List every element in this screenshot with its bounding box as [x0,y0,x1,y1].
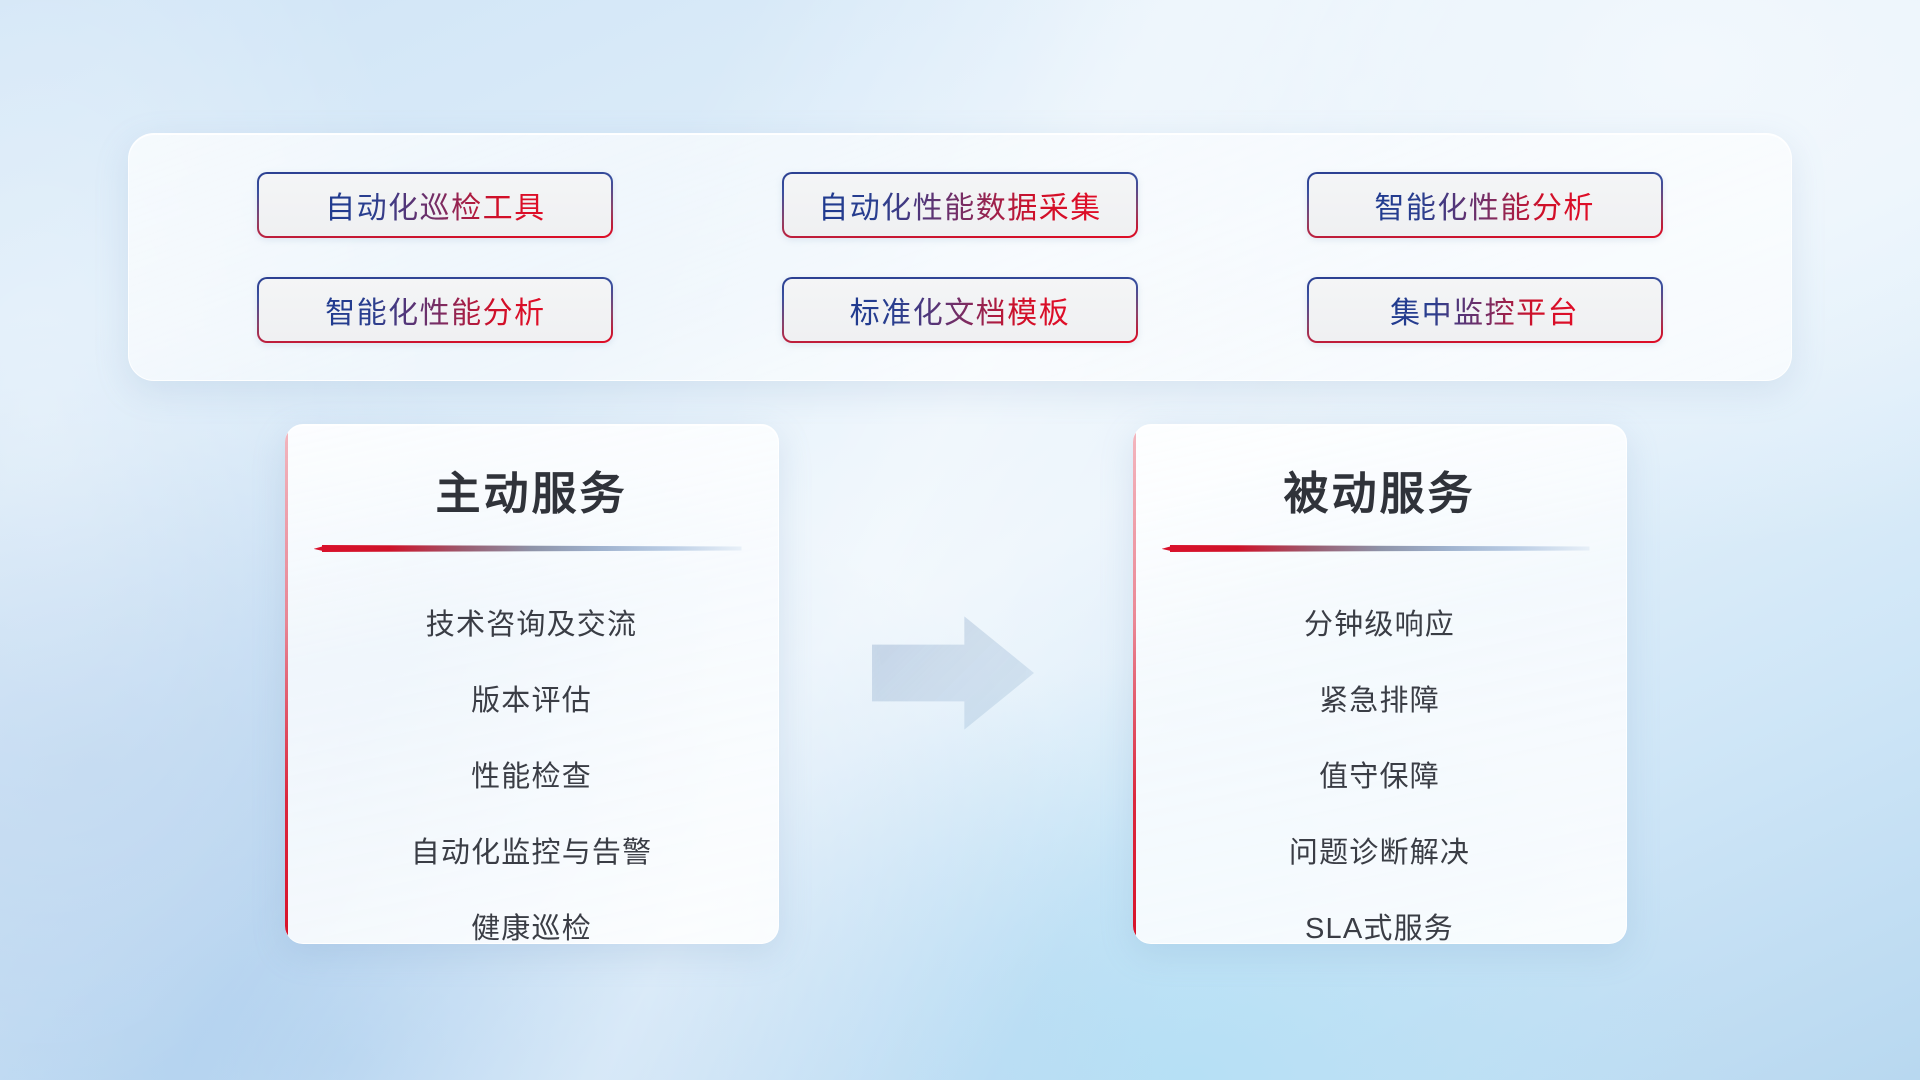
divider-bar [1170,545,1590,552]
capabilities-panel: 自动化巡检工具 自动化性能数据采集 智能化性能分析 智能化性能分析 标准化文档模… [128,133,1792,381]
capability-pill-inner: 自动化巡检工具 [259,174,611,236]
card-title: 被动服务 [1133,425,1626,522]
capability-pill-6[interactable]: 集中监控平台 [1307,277,1663,343]
capability-pill-label: 标准化文档模板 [850,288,1071,332]
capability-pill-label: 自动化性能数据采集 [818,183,1102,227]
list-item: 分钟级响应 [1133,584,1626,660]
list-item: 自动化监控与告警 [285,812,778,888]
capability-pill-3[interactable]: 智能化性能分析 [1307,172,1663,238]
capability-pill-inner: 智能化性能分析 [1309,174,1661,236]
list-item: SLA式服务 [1133,888,1626,944]
capability-pill-label: 自动化巡检工具 [325,183,546,227]
capability-pill-5[interactable]: 标准化文档模板 [782,277,1138,343]
service-card-reactive: 被动服务 分钟级响应 紧急排障 值守保障 问题诊断解决 SLA式服务 [1133,424,1627,944]
card-divider [1170,542,1590,556]
service-card-proactive: 主动服务 技术咨询及交流 版本评估 性能检查 自动化监控与告警 健康巡检 [285,424,779,944]
card-accent-edge [285,425,288,943]
list-item: 紧急排障 [1133,660,1626,736]
card-accent-edge [1133,425,1136,943]
capability-pill-label: 智能化性能分析 [325,288,546,332]
capability-pill-inner: 标准化文档模板 [784,279,1136,341]
list-item: 问题诊断解决 [1133,812,1626,888]
capability-pill-label: 智能化性能分析 [1374,183,1595,227]
capability-pill-4[interactable]: 智能化性能分析 [257,277,613,343]
capability-pill-inner: 集中监控平台 [1309,279,1661,341]
capability-pill-1[interactable]: 自动化巡检工具 [257,172,613,238]
list-item: 健康巡检 [285,888,778,944]
divider-bar [322,545,742,552]
list-item: 技术咨询及交流 [285,584,778,660]
list-item: 性能检查 [285,736,778,812]
capability-pill-2[interactable]: 自动化性能数据采集 [782,172,1138,238]
list-item: 版本评估 [285,660,778,736]
card-divider [322,542,742,556]
capability-pill-label: 集中监控平台 [1390,288,1579,332]
list-item: 值守保障 [1133,736,1626,812]
service-list-proactive: 技术咨询及交流 版本评估 性能检查 自动化监控与告警 健康巡检 [285,556,778,944]
service-list-reactive: 分钟级响应 紧急排障 值守保障 问题诊断解决 SLA式服务 [1133,556,1626,944]
capability-pill-inner: 自动化性能数据采集 [784,174,1136,236]
capability-pill-inner: 智能化性能分析 [259,279,611,341]
card-title: 主动服务 [285,425,778,522]
